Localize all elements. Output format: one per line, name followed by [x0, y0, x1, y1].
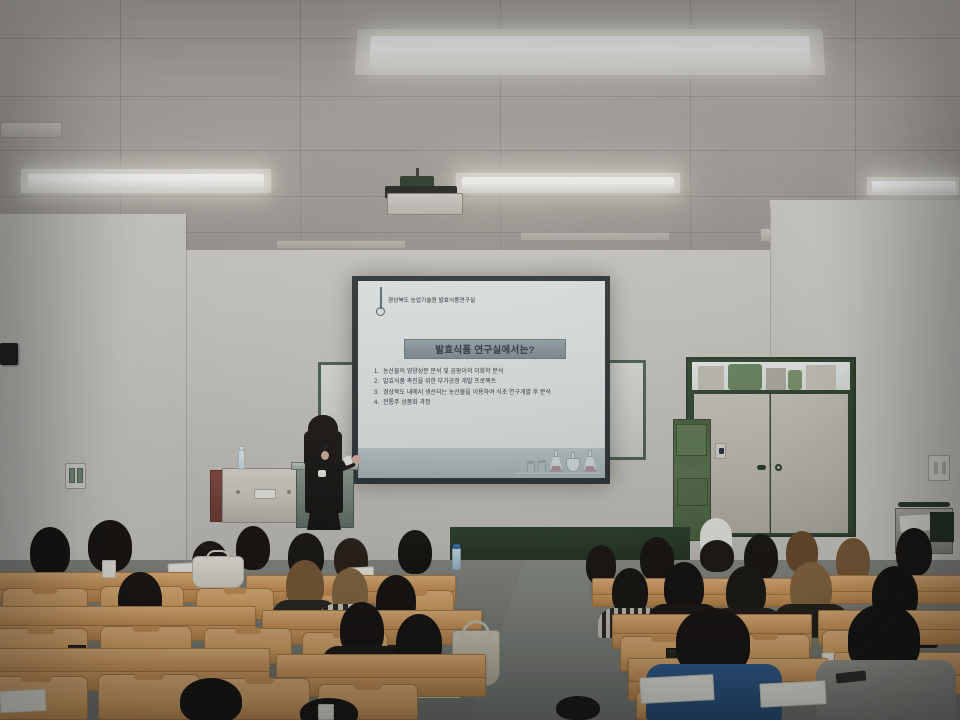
- flask-body: [566, 458, 580, 472]
- door-handle[interactable]: [757, 465, 766, 470]
- panel-section: [676, 424, 707, 456]
- light-switch[interactable]: [65, 463, 86, 489]
- wall-speaker-icon: [0, 343, 18, 365]
- paper-cup: [102, 560, 116, 578]
- student-head: [398, 530, 432, 574]
- presenter: [296, 415, 360, 530]
- cart-handle: [898, 502, 950, 507]
- jar-body: [528, 464, 534, 473]
- ceiling-light-fixture: [455, 172, 681, 194]
- ceiling-light-fixture: [520, 232, 670, 241]
- bullet-text: 전통주 상품화 과정: [383, 400, 431, 406]
- bullet-number: 2.: [370, 379, 379, 385]
- ceiling-light-fixture: [354, 28, 827, 76]
- panel-section: [677, 478, 708, 506]
- bottle-cap: [453, 544, 460, 549]
- ceiling-light-fixture: [0, 122, 62, 138]
- notebook-paper: [759, 680, 826, 707]
- switch-toggle[interactable]: [77, 468, 83, 483]
- wall-outlet: [928, 455, 950, 481]
- slide-title-band: 발효식품 연구실에서는?: [404, 339, 566, 359]
- notebook-paper: [0, 689, 47, 713]
- projection-screen: 경상북도 농업기술원 발효식품연구실 발효식품 연구실에서는? 1. 농산물의 …: [358, 281, 605, 478]
- presenter-hand: [352, 455, 361, 464]
- handbag-strap: [206, 550, 230, 559]
- presenter-cuff: [318, 470, 326, 477]
- switch-toggle[interactable]: [69, 468, 75, 483]
- lecture-desk: [0, 606, 256, 626]
- bullet-text: 경상북도 내에서 생산되는 농산물을 이용하여 식초 연구개발 후 분석: [383, 390, 551, 396]
- erlenmeyer-flask-icon: [549, 450, 563, 472]
- notebook-paper: [639, 674, 714, 704]
- jar-body: [539, 463, 545, 473]
- slide-bullet-list: 1. 농산물의 영양성분 분석 및 곰팡이의 이화학 분석 2. 발효식품 촉진…: [370, 369, 599, 411]
- student-head: [30, 527, 70, 577]
- cabinet-label-plate: [254, 489, 276, 499]
- ceiling-light-fixture: [276, 240, 406, 249]
- presenter-skirt: [307, 505, 341, 530]
- slide-bullet-item: 4. 전통주 상품화 과정: [370, 400, 599, 406]
- bullet-text: 농산물의 영양성분 분석 및 곰팡이의 이화학 분석: [383, 369, 503, 375]
- jar-icon: [527, 461, 535, 472]
- sensor-led: [719, 448, 724, 454]
- slide-decor-circle: [376, 307, 385, 316]
- lecture-desk: [0, 648, 270, 672]
- ceiling-light-fixture: [866, 176, 960, 196]
- student-head: [180, 678, 242, 720]
- lecture-hall-photo: 경상북도 농업기술원 발효식품연구실 발효식품 연구실에서는? 1. 농산물의 …: [0, 0, 960, 720]
- round-flask-icon: [566, 452, 580, 472]
- lecture-desk: [276, 654, 486, 678]
- student-shoulders-gray: [816, 660, 956, 720]
- water-bottle: [238, 450, 245, 470]
- door-right-leaf[interactable]: [771, 394, 848, 533]
- projector-icon: [387, 193, 463, 215]
- bullet-number: 4.: [370, 400, 379, 406]
- white-handbag: [192, 556, 244, 588]
- bullet-number: 3.: [370, 390, 379, 396]
- flask-neck: [588, 450, 592, 457]
- outlet-slot: [934, 462, 938, 474]
- slide-bullet-item: 2. 발효식품 촉진을 위한 부가공정 개발 프로젝트: [370, 379, 599, 385]
- jar-icon: [538, 460, 546, 472]
- transom-window: [692, 362, 850, 390]
- presentation-slide: 경상북도 농업기술원 발효식품연구실 발효식품 연구실에서는? 1. 농산물의 …: [358, 281, 605, 478]
- slide-header-text: 경상북도 농업기술원 발효식품연구실: [388, 296, 475, 304]
- bullet-text: 발효식품 촉진을 위한 부가공정 개발 프로젝트: [383, 379, 496, 385]
- paper-cup: [318, 704, 334, 720]
- door-handle[interactable]: [775, 464, 782, 471]
- outlet-slot: [942, 462, 946, 474]
- whiteboard-panel-right: [604, 360, 646, 460]
- slide-bullet-item: 1. 농산물의 영양성분 분석 및 곰팡이의 이화학 분석: [370, 369, 599, 375]
- cabinet-knob[interactable]: [287, 490, 291, 494]
- presenter-hand: [321, 451, 329, 460]
- ceiling-light-fixture: [20, 168, 272, 194]
- slide-bullet-item: 3. 경상북도 내에서 생산되는 농산물을 이용하여 식초 연구개발 후 분석: [370, 390, 599, 396]
- cabinet-knob[interactable]: [236, 490, 240, 494]
- student-head: [700, 540, 734, 572]
- slide-title-text: 발효식품 연구실에서는?: [435, 342, 534, 356]
- wall-seam: [186, 214, 187, 580]
- bullet-number: 1.: [370, 369, 379, 375]
- card-reader-icon[interactable]: [715, 443, 726, 459]
- erlenmeyer-flask-icon: [583, 450, 597, 472]
- water-bottle: [452, 548, 461, 570]
- cart-equipment: [930, 512, 954, 542]
- slide-glassware-group: [527, 444, 597, 472]
- student-head: [556, 696, 600, 720]
- slide-decor-line: [380, 287, 382, 309]
- left-wall: [0, 214, 186, 580]
- flask-neck: [554, 450, 558, 457]
- slide-header: 경상북도 농업기술원 발효식품연구실: [388, 293, 597, 307]
